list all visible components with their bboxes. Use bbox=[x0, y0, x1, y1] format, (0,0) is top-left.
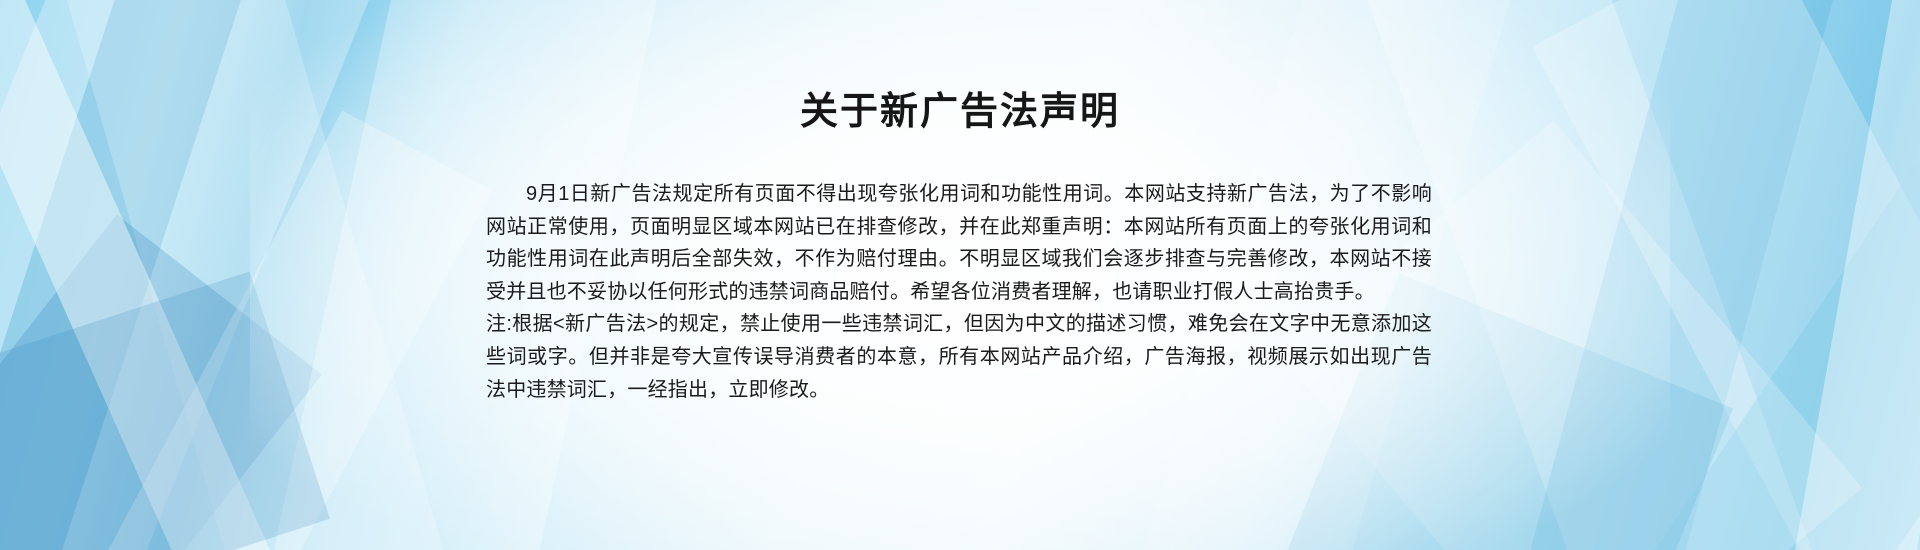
statement-paragraph-1: 9月1日新广告法规定所有页面不得出现夸张化用词和功能性用词。本网站支持新广告法，… bbox=[486, 178, 1432, 308]
statement-body: 9月1日新广告法规定所有页面不得出现夸张化用词和功能性用词。本网站支持新广告法，… bbox=[486, 178, 1432, 406]
statement-content: 关于新广告法声明 9月1日新广告法规定所有页面不得出现夸张化用词和功能性用词。本… bbox=[0, 0, 1920, 550]
statement-paragraph-2: 注:根据<新广告法>的规定，禁止使用一些违禁词汇，但因为中文的描述习惯，难免会在… bbox=[486, 308, 1432, 406]
page-title: 关于新广告法声明 bbox=[0, 88, 1920, 136]
advertising-law-statement-banner: 关于新广告法声明 9月1日新广告法规定所有页面不得出现夸张化用词和功能性用词。本… bbox=[0, 0, 1920, 550]
